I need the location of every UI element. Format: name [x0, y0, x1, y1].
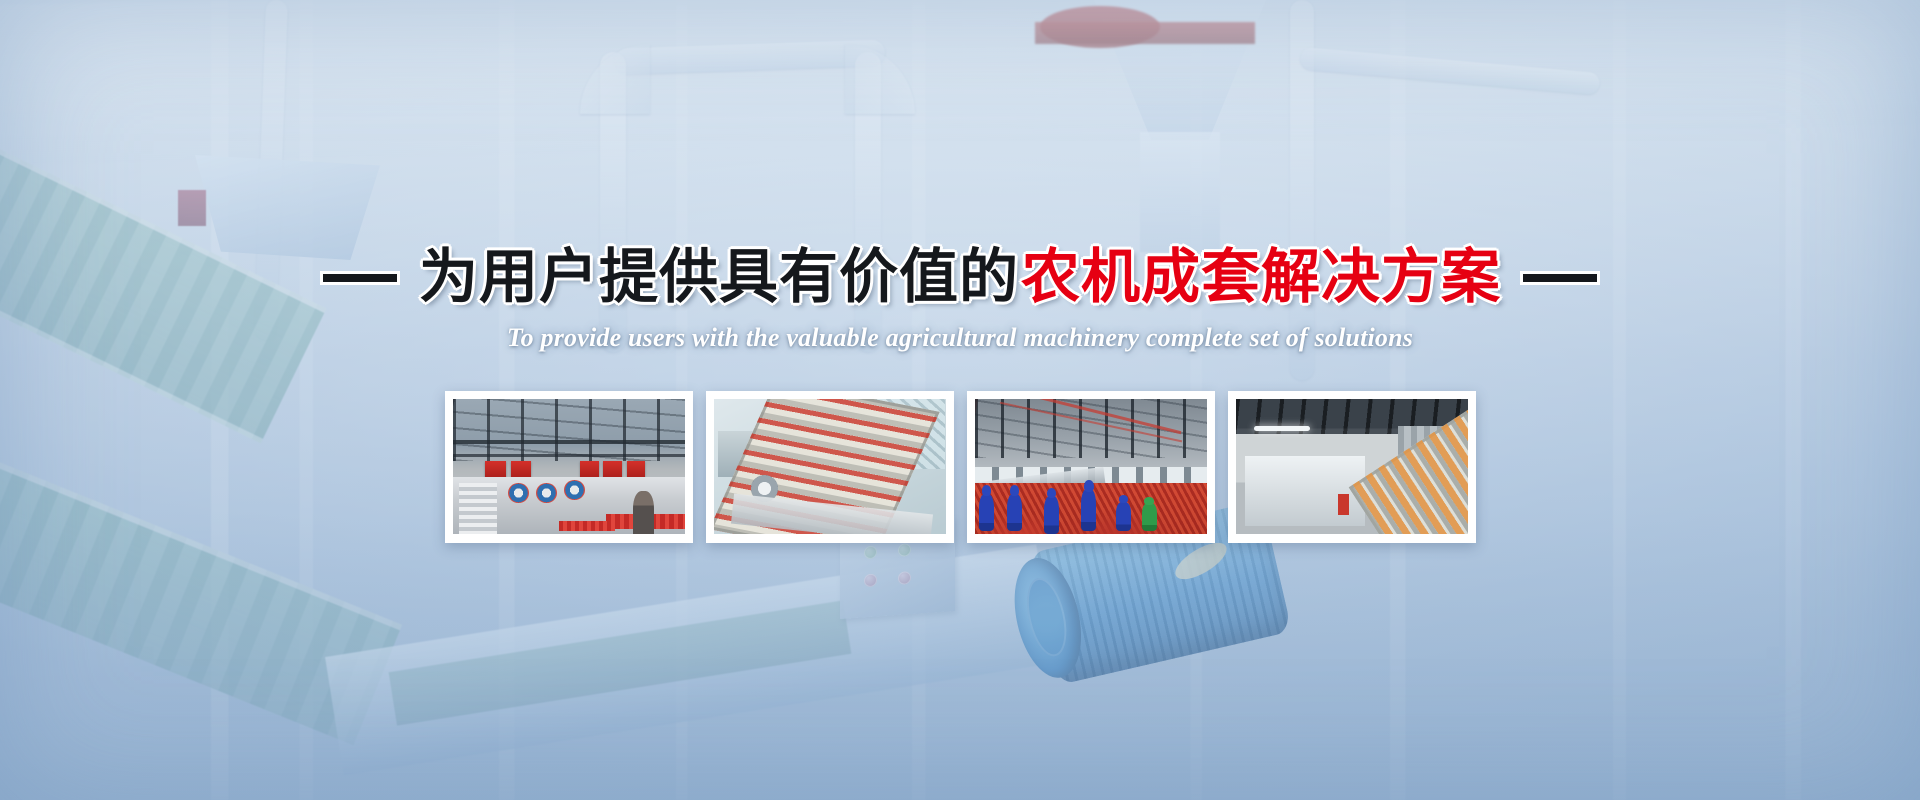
dash-right-icon	[1523, 274, 1597, 282]
banner-content: 为用户提供具有价值的 农机成套解决方案 To provide users wit…	[0, 0, 1920, 800]
thumbnail-4[interactable]	[1228, 391, 1476, 543]
thumbnail-1-image	[453, 399, 685, 534]
headline-black-part: 为用户提供具有价值的	[419, 248, 1019, 307]
thumbnail-3-image	[975, 399, 1207, 534]
thumbnail-strip	[445, 391, 1476, 543]
thumbnail-4-image	[1236, 399, 1468, 534]
headline-text: 为用户提供具有价值的 农机成套解决方案	[419, 248, 1501, 307]
thumbnail-1[interactable]	[445, 391, 693, 543]
thumbnail-2-image	[714, 399, 946, 534]
headline: 为用户提供具有价值的 农机成套解决方案	[323, 248, 1597, 307]
thumbnail-2[interactable]	[706, 391, 954, 543]
headline-red-part: 农机成套解决方案	[1021, 248, 1501, 307]
subtitle: To provide users with the valuable agric…	[507, 323, 1413, 353]
dash-left-icon	[323, 274, 397, 282]
thumbnail-3[interactable]	[967, 391, 1215, 543]
hero-banner: 为用户提供具有价值的 农机成套解决方案 To provide users wit…	[0, 0, 1920, 800]
